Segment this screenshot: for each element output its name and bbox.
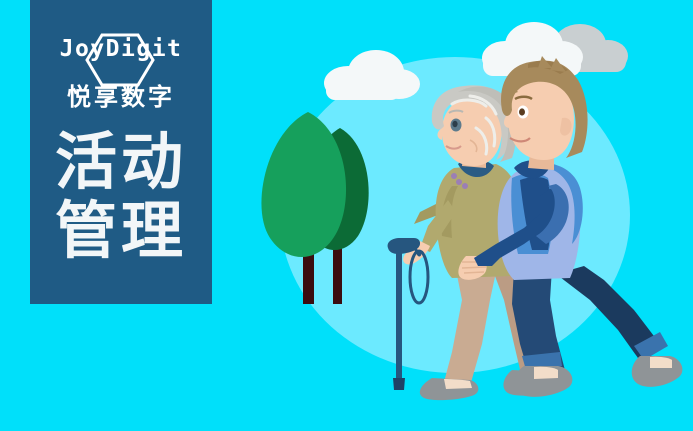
page-title-line2: 管理 [30, 197, 212, 266]
cane-shaft [396, 250, 402, 380]
poster-canvas: JoyDigit 悦享数字 活动 管理 [0, 0, 693, 431]
page-title-line1: 活动 [55, 128, 187, 197]
page-title: 活动 管理 [30, 128, 212, 267]
brand-chinese-name: 悦享数字 [30, 85, 212, 111]
brand-wordmark: JoyDigit [30, 38, 212, 61]
cane-tip [393, 378, 405, 390]
brand-logo: JoyDigit 悦享数字 [30, 30, 212, 122]
